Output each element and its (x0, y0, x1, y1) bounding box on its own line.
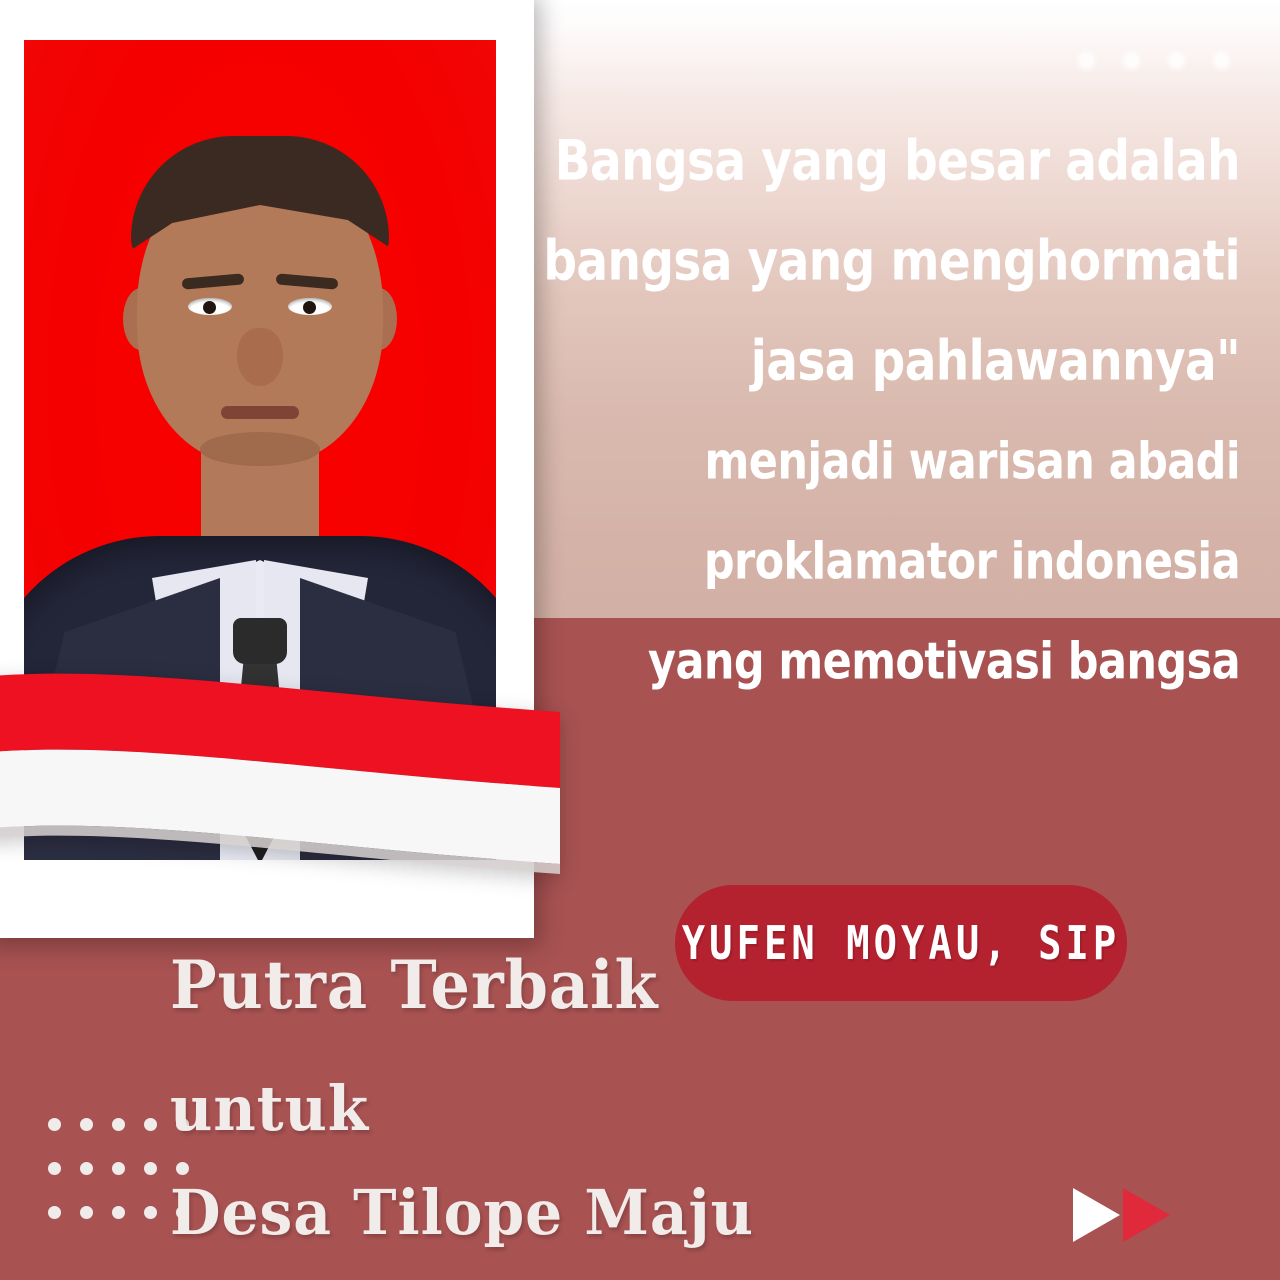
grid-dot (80, 1118, 93, 1131)
grid-dot (112, 1206, 125, 1219)
headline-line-1: Putra Terbaik (170, 952, 754, 1018)
top-dots-decoration (1078, 52, 1230, 69)
portrait-tie-knot (233, 618, 287, 664)
top-dot-1 (1078, 52, 1095, 69)
quote-block: Bangsa yang besar adalah bangsa yang men… (540, 112, 1240, 712)
headline-line-3: Desa Tilope Maju (170, 1182, 754, 1244)
top-dot-2 (1123, 52, 1140, 69)
grid-dot (112, 1118, 125, 1131)
indonesia-flag-ribbon (0, 660, 560, 892)
headline-block: Putra Terbaik untuk Desa Tilope Maju (170, 952, 791, 1244)
grid-dot (112, 1162, 125, 1175)
grid-dot (48, 1206, 61, 1219)
play-arrows-decoration (1073, 1188, 1170, 1242)
grid-dot (48, 1118, 61, 1131)
grid-dot (144, 1206, 157, 1219)
portrait-pupil-left (203, 301, 216, 314)
portrait-mouth (221, 406, 299, 419)
grid-dot (80, 1206, 93, 1219)
grid-dot (144, 1118, 157, 1131)
grid-dot (144, 1162, 157, 1175)
top-dot-3 (1168, 52, 1185, 69)
portrait-chin-shadow (200, 432, 320, 466)
grid-dot (80, 1162, 93, 1175)
portrait-nose (237, 328, 283, 386)
play-triangle-red-icon (1123, 1188, 1170, 1242)
poster-canvas: Bangsa yang besar adalah bangsa yang men… (0, 0, 1280, 1280)
portrait-pupil-right (303, 301, 316, 314)
play-triangle-white-icon (1073, 1188, 1120, 1242)
top-dot-4 (1213, 52, 1230, 69)
quote-line-6: yang memotivasi bangsa (540, 603, 1240, 721)
headline-line-2: untuk (170, 1078, 754, 1140)
grid-dot (48, 1162, 61, 1175)
